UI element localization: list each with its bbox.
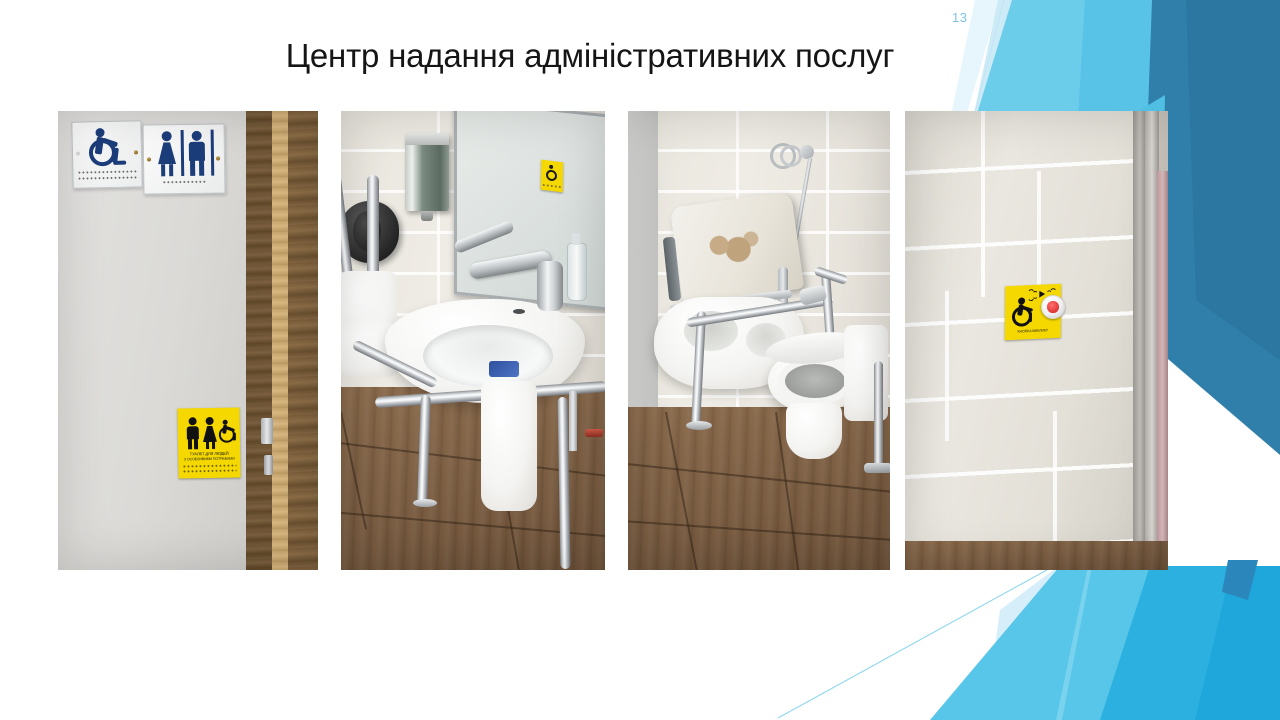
deco-shape-tr-steel-dark [1186, 0, 1280, 360]
deco-shape-br-notch [1222, 560, 1258, 600]
deco-shape-br-cyan [930, 566, 1280, 720]
photo-accessible-toilet-and-changing-table [628, 111, 890, 570]
deco-shape-br-pale [985, 565, 1060, 720]
photo-door-with-tactile-signs: ТУАЛЕТ ДЛЯ ЛЮДЕЙ З ОСОБЛИВИМИ ПОТРЕБАМИ [58, 111, 318, 570]
presentation-slide: 13 Центр надання адміністративних послуг [0, 0, 1280, 720]
deco-shape-br-blue [1195, 566, 1280, 720]
photo-emergency-call-button: КНОПКА ВИКЛИКУ [905, 111, 1168, 570]
slide-number: 13 [952, 10, 967, 25]
deco-hairline-diagonal [778, 560, 1065, 718]
photo-accessible-washbasin [341, 111, 605, 570]
deco-shape-br-hairline [1056, 566, 1092, 720]
page-title: Центр надання адміністративних послуг [0, 36, 1180, 76]
deco-shape-br-mid [1100, 566, 1280, 720]
